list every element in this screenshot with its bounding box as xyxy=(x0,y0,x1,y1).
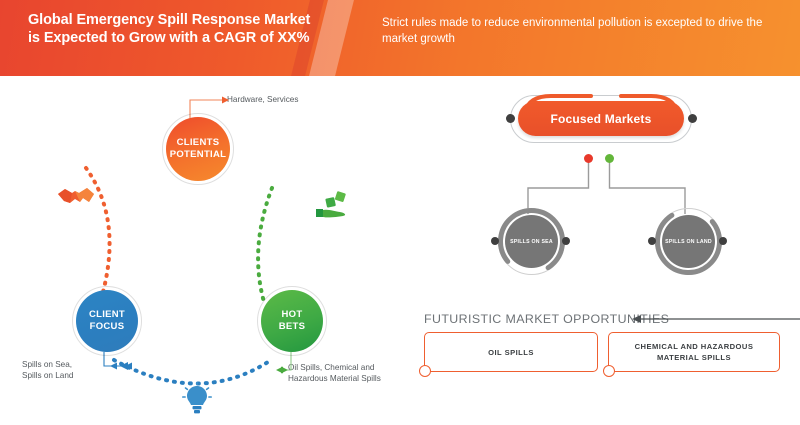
node-client-focus[interactable]: CLIENT FOCUS xyxy=(76,290,138,352)
option-chemical-hazardous[interactable]: CHEMICAL AND HAZARDOUS MATERIAL SPILLS xyxy=(608,332,780,372)
header-subtitle: Strict rules made to reduce environmenta… xyxy=(382,15,772,47)
infographic-canvas: Global Emergency Spill Response Market i… xyxy=(0,0,800,425)
circle-spills-on-sea[interactable]: SPILLS ON SEA xyxy=(505,215,558,268)
left-connector-arrowheads xyxy=(0,0,440,425)
clients-potential-label-line1: CLIENTS xyxy=(177,137,220,148)
option-chemical-hazardous-marker xyxy=(603,365,615,377)
hot-bets-label-line2: BETS xyxy=(279,321,306,332)
lightbulb-icon xyxy=(182,382,212,416)
focused-markets-dot-right xyxy=(688,114,697,123)
spills-on-land-dot-left xyxy=(648,237,656,245)
hand-money-icon xyxy=(314,190,354,222)
spills-on-sea-dot-right xyxy=(562,237,570,245)
client-focus-label-line1: CLIENT xyxy=(89,309,125,320)
node-clients-potential[interactable]: CLIENTS POTENTIAL xyxy=(166,117,230,181)
node-hot-bets[interactable]: HOT BETS xyxy=(261,290,323,352)
futuristic-arrow xyxy=(630,310,800,328)
spills-on-sea-dot-left xyxy=(491,237,499,245)
focused-markets-dot-left xyxy=(506,114,515,123)
option-oil-spills-marker xyxy=(419,365,431,377)
clients-potential-label-line2: POTENTIAL xyxy=(170,149,227,160)
hot-bets-label-line1: HOT xyxy=(282,309,303,320)
spills-on-land-dot-right xyxy=(719,237,727,245)
red-branch-dot xyxy=(584,154,593,163)
circle-spills-on-land[interactable]: SPILLS ON LAND xyxy=(662,215,715,268)
green-branch-dot xyxy=(605,154,614,163)
handshake-icon xyxy=(56,182,96,210)
client-focus-label-line2: FOCUS xyxy=(90,321,125,332)
option-oil-spills[interactable]: OIL SPILLS xyxy=(424,332,598,372)
focused-markets-pill[interactable]: Focused Markets xyxy=(518,101,684,136)
